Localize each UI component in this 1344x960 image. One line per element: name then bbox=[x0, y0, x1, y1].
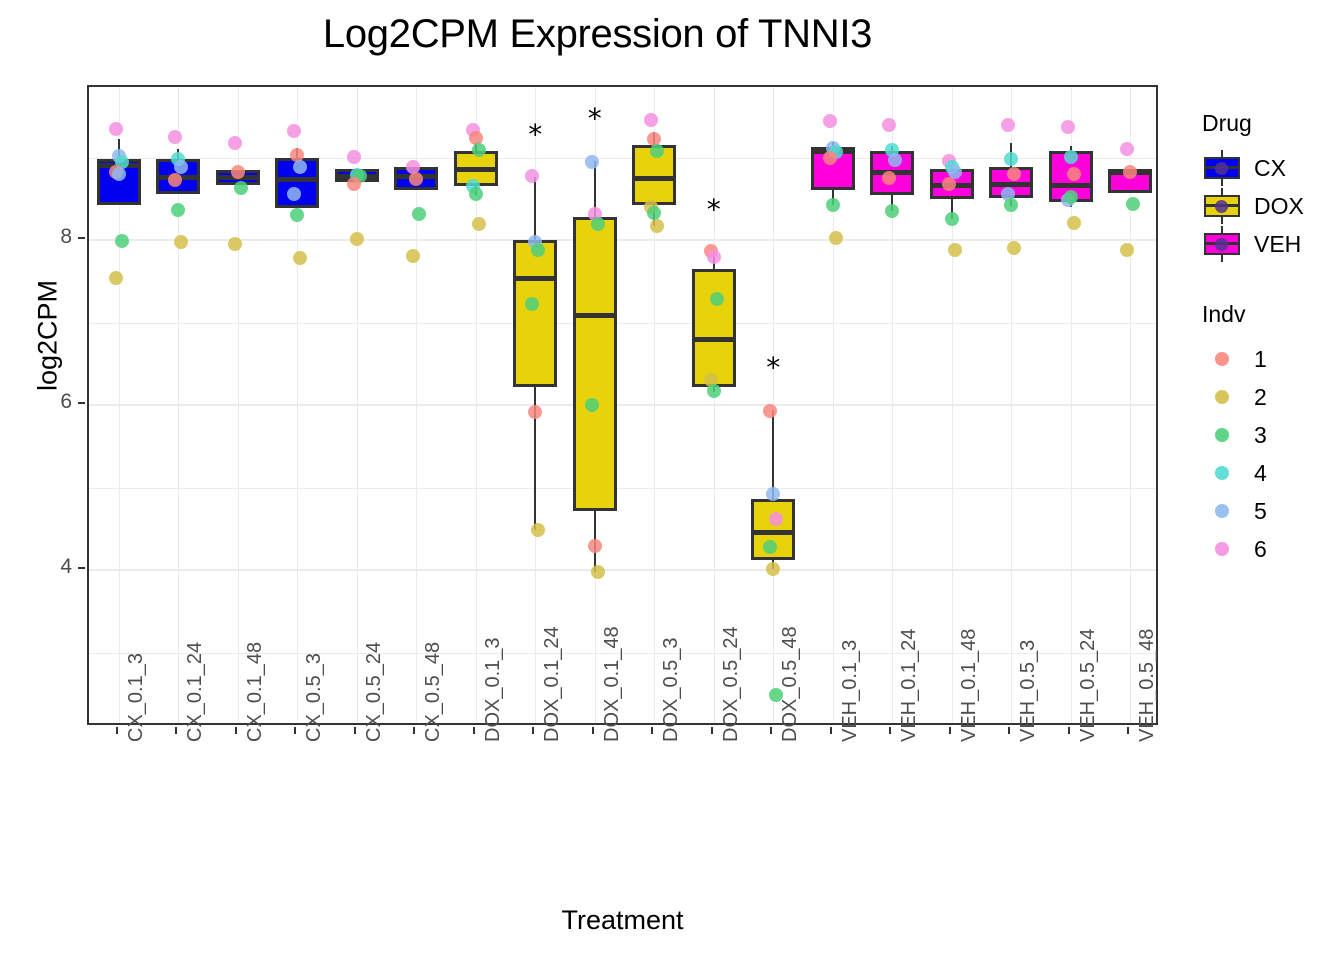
data-point[interactable] bbox=[174, 235, 188, 249]
boxplot-median bbox=[573, 313, 617, 318]
data-point[interactable] bbox=[412, 207, 426, 221]
x-tick-label: CX_0.5_24 bbox=[363, 642, 386, 742]
y-tick-label: 4 bbox=[44, 555, 72, 579]
data-point[interactable] bbox=[829, 231, 843, 245]
data-point[interactable] bbox=[168, 173, 182, 187]
boxplot-median bbox=[454, 167, 498, 172]
legend-item-label: 6 bbox=[1254, 536, 1267, 563]
data-point[interactable] bbox=[945, 212, 959, 226]
data-point[interactable] bbox=[350, 232, 364, 246]
boxplot-box[interactable] bbox=[692, 269, 736, 387]
x-tick-label: DOX_0.1_3 bbox=[482, 637, 505, 742]
legend-item-drug[interactable]: CX bbox=[1196, 149, 1344, 187]
legend-item-indv[interactable]: 1 bbox=[1196, 340, 1344, 378]
page-title: Log2CPM Expression of TNNI3 bbox=[0, 12, 1195, 57]
data-point[interactable] bbox=[591, 217, 605, 231]
gridline-minor bbox=[89, 323, 1156, 324]
data-point[interactable] bbox=[942, 177, 956, 191]
data-point[interactable] bbox=[406, 249, 420, 263]
legend-item-label: CX bbox=[1254, 155, 1286, 182]
data-point[interactable] bbox=[525, 297, 539, 311]
point-key-icon bbox=[1204, 382, 1240, 412]
point-key-icon bbox=[1204, 534, 1240, 564]
data-point[interactable] bbox=[290, 208, 304, 222]
x-tick-label: VEH_0.1_24 bbox=[898, 629, 921, 742]
gridline-major bbox=[89, 239, 1156, 241]
x-tick-mark bbox=[889, 727, 891, 734]
legend-indv: Indv 123456 bbox=[1196, 301, 1344, 568]
x-tick-mark bbox=[473, 727, 475, 734]
data-point[interactable] bbox=[115, 234, 129, 248]
point-key-icon bbox=[1204, 496, 1240, 526]
data-point[interactable] bbox=[1067, 216, 1081, 230]
y-tick-label: 6 bbox=[44, 390, 72, 414]
data-point[interactable] bbox=[472, 217, 486, 231]
x-tick-label: CX_0.1_48 bbox=[244, 642, 267, 742]
data-point[interactable] bbox=[109, 122, 123, 136]
x-tick-mark bbox=[532, 727, 534, 734]
x-tick-mark bbox=[1127, 727, 1129, 734]
y-tick-mark bbox=[78, 237, 85, 239]
legend-item-drug[interactable]: DOX bbox=[1196, 187, 1344, 225]
data-point[interactable] bbox=[234, 181, 248, 195]
data-point[interactable] bbox=[112, 167, 126, 181]
point-key-icon bbox=[1204, 458, 1240, 488]
legend-item-indv[interactable]: 4 bbox=[1196, 454, 1344, 492]
boxplot-median bbox=[692, 337, 736, 342]
x-tick-mark bbox=[1068, 727, 1070, 734]
boxplot-median bbox=[1049, 183, 1093, 188]
data-point[interactable] bbox=[287, 187, 301, 201]
x-tick-mark bbox=[235, 727, 237, 734]
data-point[interactable] bbox=[885, 204, 899, 218]
x-tick-mark bbox=[175, 727, 177, 734]
data-point[interactable] bbox=[1004, 152, 1018, 166]
data-point[interactable] bbox=[228, 237, 242, 251]
legend-item-indv[interactable]: 6 bbox=[1196, 530, 1344, 568]
legend-item-label: 5 bbox=[1254, 498, 1267, 525]
y-tick-mark bbox=[78, 402, 85, 404]
data-point[interactable] bbox=[1126, 197, 1140, 211]
data-point[interactable] bbox=[228, 136, 242, 150]
legend-item-label: DOX bbox=[1254, 193, 1304, 220]
x-tick-label: DOX_0.1_48 bbox=[601, 626, 624, 742]
boxplot-key-icon bbox=[1204, 191, 1240, 221]
data-point[interactable] bbox=[231, 165, 245, 179]
gridline-vertical bbox=[714, 87, 715, 723]
x-axis-title: Treatment bbox=[87, 905, 1158, 936]
data-point[interactable] bbox=[287, 124, 301, 138]
legend-item-label: VEH bbox=[1254, 231, 1301, 258]
data-point[interactable] bbox=[109, 271, 123, 285]
data-point[interactable] bbox=[171, 203, 185, 217]
data-point[interactable] bbox=[591, 565, 605, 579]
data-point[interactable] bbox=[168, 130, 182, 144]
legend-item-indv[interactable]: 5 bbox=[1196, 492, 1344, 530]
data-point[interactable] bbox=[1064, 190, 1078, 204]
x-tick-label: CX_0.1_3 bbox=[125, 653, 148, 742]
x-tick-label: DOX_0.5_48 bbox=[779, 626, 802, 742]
data-point[interactable] bbox=[647, 206, 661, 220]
x-tick-label: CX_0.5_48 bbox=[422, 642, 445, 742]
legend-indv-title: Indv bbox=[1202, 301, 1344, 328]
significance-star: * bbox=[707, 196, 721, 224]
legend-drug-title: Drug bbox=[1202, 110, 1344, 137]
data-point[interactable] bbox=[769, 512, 783, 526]
data-point[interactable] bbox=[707, 250, 721, 264]
data-point[interactable] bbox=[1120, 142, 1134, 156]
boxplot-median bbox=[275, 177, 319, 182]
x-tick-label: DOX_0.5_3 bbox=[660, 637, 683, 742]
gridline-minor bbox=[89, 488, 1156, 489]
x-tick-mark bbox=[1008, 727, 1010, 734]
boxplot-key-icon bbox=[1204, 229, 1240, 259]
gridline-major bbox=[89, 569, 1156, 571]
x-tick-mark bbox=[592, 727, 594, 734]
x-tick-label: DOX_0.1_24 bbox=[541, 626, 564, 742]
legend-item-label: 4 bbox=[1254, 460, 1267, 487]
x-tick-mark bbox=[770, 727, 772, 734]
x-tick-mark bbox=[949, 727, 951, 734]
legend-area: Drug CXDOXVEH Indv 123456 bbox=[1196, 110, 1344, 568]
significance-star: * bbox=[528, 121, 542, 149]
data-point[interactable] bbox=[1067, 167, 1081, 181]
chart-root: Log2CPM Expression of TNNI3 log2CPM Trea… bbox=[0, 0, 1344, 960]
legend-drug: Drug CXDOXVEH bbox=[1196, 110, 1344, 263]
x-tick-mark bbox=[651, 727, 653, 734]
legend-item-label: 1 bbox=[1254, 346, 1267, 373]
x-tick-label: VEH_0.1_3 bbox=[839, 640, 862, 742]
significance-star: * bbox=[588, 105, 602, 133]
x-tick-label: VEH_0.1_48 bbox=[958, 629, 981, 742]
data-point[interactable] bbox=[710, 292, 724, 306]
boxplot-box[interactable] bbox=[573, 217, 617, 511]
legend-item-indv[interactable]: 2 bbox=[1196, 378, 1344, 416]
boxplot-key-icon bbox=[1204, 153, 1240, 183]
data-point[interactable] bbox=[1007, 241, 1021, 255]
data-point[interactable] bbox=[948, 243, 962, 257]
data-point[interactable] bbox=[469, 187, 483, 201]
point-key-icon bbox=[1204, 344, 1240, 374]
boxplot-median bbox=[632, 176, 676, 181]
data-point[interactable] bbox=[347, 177, 361, 191]
data-point[interactable] bbox=[644, 113, 658, 127]
boxplot-median bbox=[989, 182, 1033, 187]
gridline-major bbox=[89, 404, 1156, 406]
legend-item-indv[interactable]: 3 bbox=[1196, 416, 1344, 454]
x-tick-mark bbox=[711, 727, 713, 734]
x-tick-mark bbox=[354, 727, 356, 734]
data-point[interactable] bbox=[882, 118, 896, 132]
significance-star: * bbox=[766, 354, 780, 382]
legend-item-label: 2 bbox=[1254, 384, 1267, 411]
data-point[interactable] bbox=[525, 169, 539, 183]
x-tick-mark bbox=[413, 727, 415, 734]
data-point[interactable] bbox=[1001, 118, 1015, 132]
boxplot-median bbox=[513, 276, 557, 281]
data-point[interactable] bbox=[293, 251, 307, 265]
data-point[interactable] bbox=[531, 523, 545, 537]
y-tick-label: 8 bbox=[44, 225, 72, 249]
data-point[interactable] bbox=[588, 539, 602, 553]
x-tick-label: VEH_0.5_3 bbox=[1017, 640, 1040, 742]
boxplot-box[interactable] bbox=[513, 240, 557, 387]
data-point[interactable] bbox=[823, 151, 837, 165]
data-point[interactable] bbox=[1061, 120, 1075, 134]
data-point[interactable] bbox=[766, 562, 780, 576]
data-point[interactable] bbox=[1064, 150, 1078, 164]
boxplot-median bbox=[751, 530, 795, 535]
y-tick-mark bbox=[78, 567, 85, 569]
data-point[interactable] bbox=[1120, 243, 1134, 257]
data-point[interactable] bbox=[472, 143, 486, 157]
legend-item-drug[interactable]: VEH bbox=[1196, 225, 1344, 263]
x-tick-label: CX_0.1_24 bbox=[184, 642, 207, 742]
x-tick-label: VEH_0.5_48 bbox=[1136, 629, 1159, 742]
data-point[interactable] bbox=[1004, 198, 1018, 212]
data-point[interactable] bbox=[826, 198, 840, 212]
x-tick-mark bbox=[830, 727, 832, 734]
point-key-icon bbox=[1204, 420, 1240, 450]
data-point[interactable] bbox=[823, 114, 837, 128]
x-tick-label: DOX_0.5_24 bbox=[720, 626, 743, 742]
x-tick-label: VEH_0.5_24 bbox=[1077, 629, 1100, 742]
data-point[interactable] bbox=[347, 150, 361, 164]
x-tick-mark bbox=[294, 727, 296, 734]
legend-item-label: 3 bbox=[1254, 422, 1267, 449]
data-point[interactable] bbox=[585, 398, 599, 412]
x-tick-label: CX_0.5_3 bbox=[303, 653, 326, 742]
data-point[interactable] bbox=[650, 219, 664, 233]
x-tick-mark bbox=[116, 727, 118, 734]
gridline-minor bbox=[89, 158, 1156, 159]
data-point[interactable] bbox=[763, 404, 777, 418]
data-point[interactable] bbox=[528, 405, 542, 419]
data-point[interactable] bbox=[707, 384, 721, 398]
data-point[interactable] bbox=[585, 155, 599, 169]
